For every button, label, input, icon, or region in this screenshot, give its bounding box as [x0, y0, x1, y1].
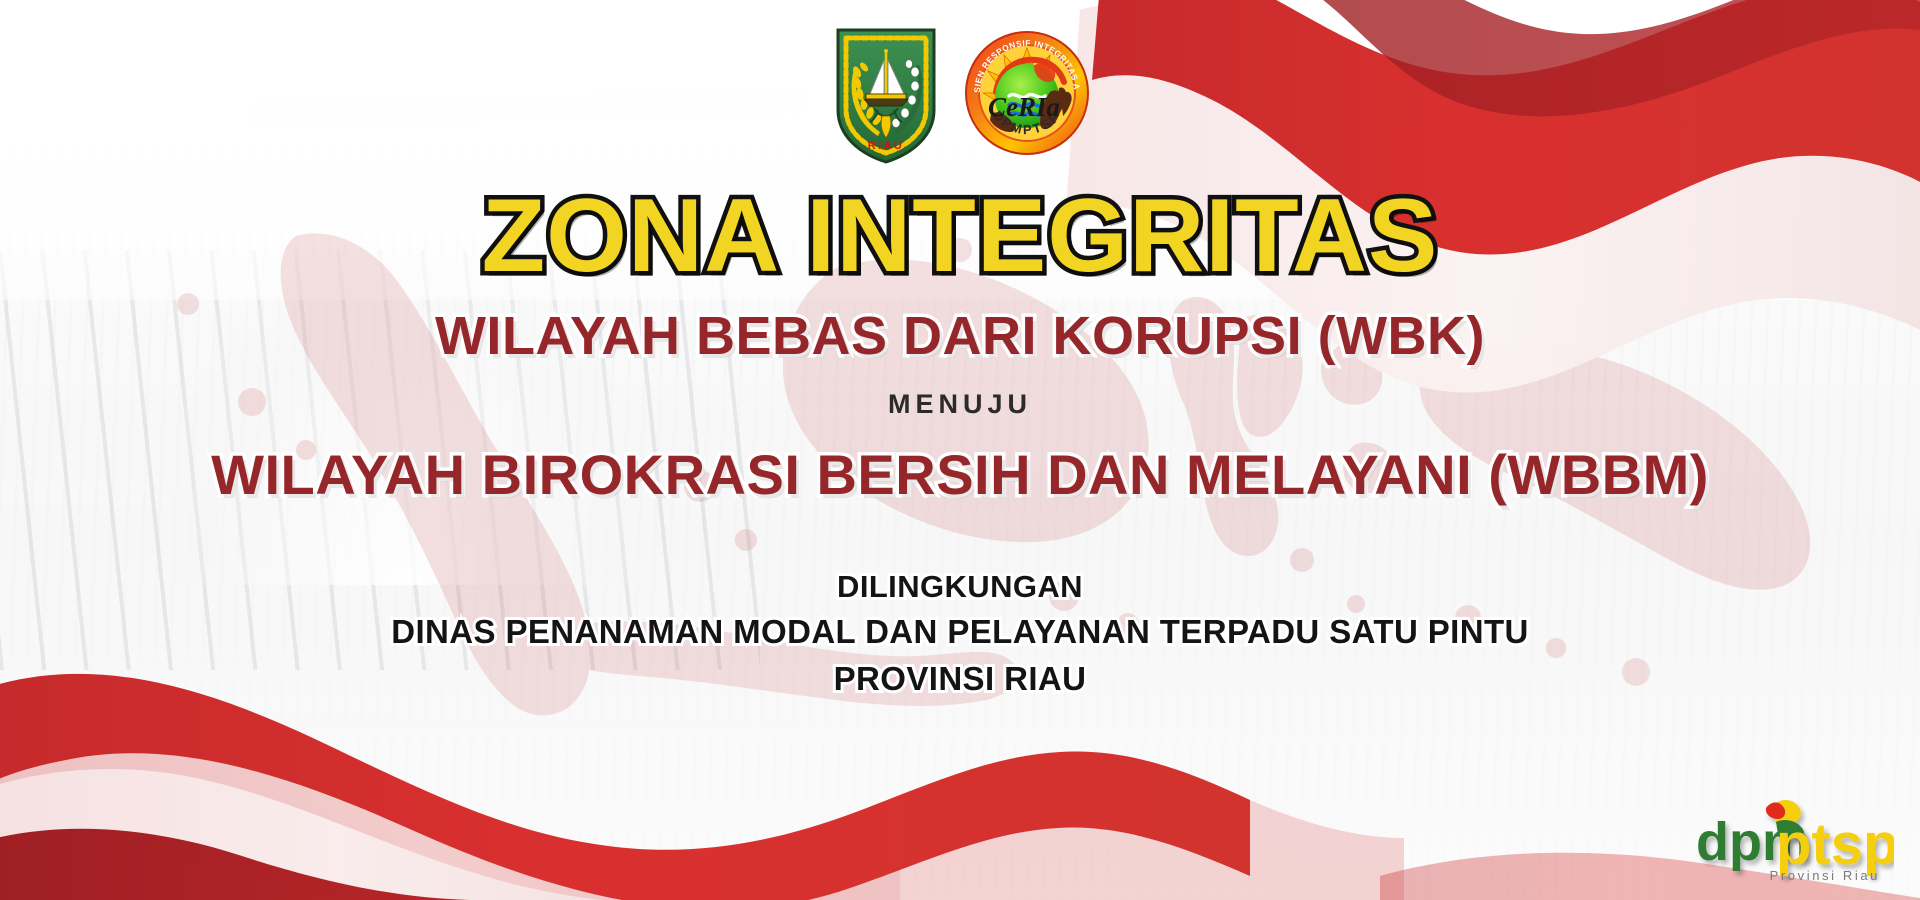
footer-line-organisation: DINAS PENANAMAN MODAL DAN PELAYANAN TERP… [0, 609, 1920, 656]
footer-line-dilingkungan: DILINGKUNGAN [0, 565, 1920, 609]
label-menuju: MENUJU [0, 389, 1920, 420]
page-title: ZONA INTEGRITAS [0, 182, 1920, 291]
dpm-ptsp-logo: dpm ptsp Provinsi Riau [1680, 788, 1894, 884]
subtitle-wbbm: WILAYAH BIROKRASI BERSIH DAN MELAYANI (W… [0, 442, 1920, 507]
riau-emblem-caption: RIAU [868, 140, 905, 152]
footer-text-block: DILINGKUNGAN DINAS PENANAMAN MODAL DAN P… [0, 565, 1920, 703]
banner-text-content: ZONA INTEGRITAS WILAYAH BEBAS DARI KORUP… [0, 182, 1920, 703]
riau-emblem-icon: RIAU [830, 24, 942, 166]
dpm-ptsp-tagline: Provinsi Riau [1770, 868, 1880, 883]
footer-line-province: PROVINSI RIAU [0, 656, 1920, 703]
subtitle-wbk: WILAYAH BEBAS DARI KORUPSI (WBK) [0, 305, 1920, 367]
zona-integritas-banner: RIAU [0, 0, 1920, 900]
logo-row: RIAU [0, 24, 1920, 166]
ceria-emblem-wordmark: CeRIa [988, 92, 1060, 122]
ceria-emblem-icon: CEPAT EFISIEN RESPONSIF INTEGRITAS AKUNT… [964, 30, 1090, 156]
